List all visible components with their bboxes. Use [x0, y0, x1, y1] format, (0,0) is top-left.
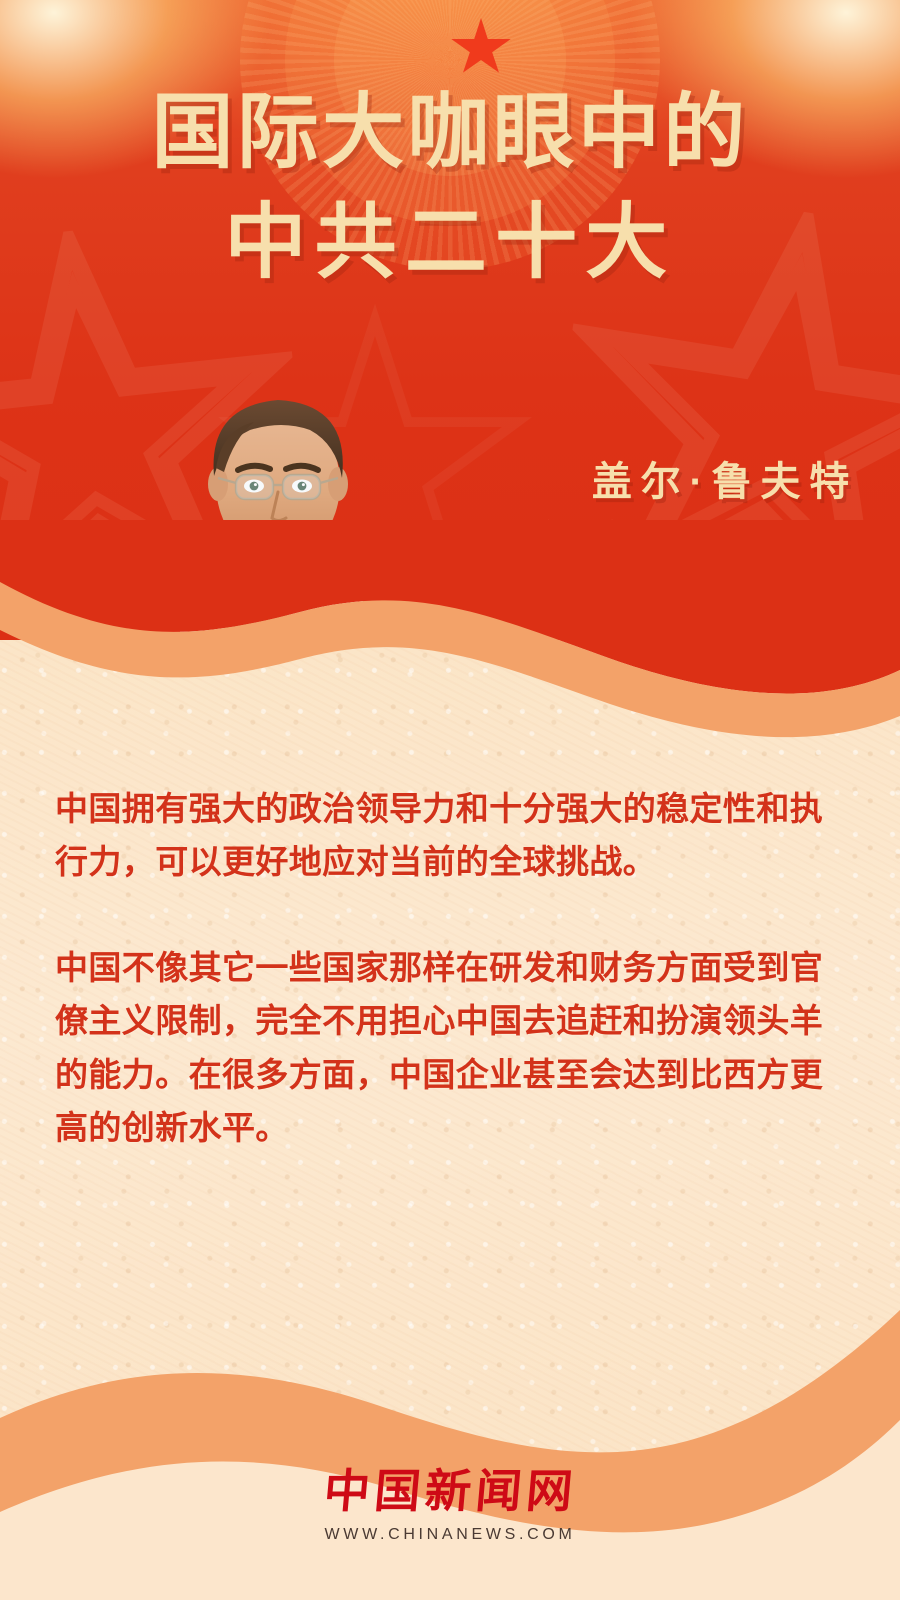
title-line-1: 国际大咖眼中的 [0, 92, 900, 174]
poster-root: 国际大咖眼中的 中共二十大 [0, 0, 900, 1600]
title-line-2: 中共二十大 [0, 202, 900, 284]
guest-name: 盖尔·鲁夫特 [338, 460, 858, 504]
chinanews-logo: 中国新闻网 WWW.CHINANEWS.COM [0, 1468, 900, 1544]
quote-paragraph-2: 中国不像其它一些国家那样在研发和财务方面受到官僚主义限制，完全不用担心中国去追赶… [55, 941, 845, 1155]
guest-credentials: 美国华盛顿智库全球安全研究所(IAGS)联席所长、 美国能源安全理事会高级顾问 [338, 516, 858, 579]
guest-info: 盖尔·鲁夫特 美国华盛顿智库全球安全研究所(IAGS)联席所长、 美国能源安全理… [338, 460, 858, 579]
quote-body: 中国拥有强大的政治领导力和十分强大的稳定性和执行力，可以更好地应对当前的全球挑战… [55, 782, 845, 1155]
page-title: 国际大咖眼中的 中共二十大 [0, 92, 900, 284]
chinanews-url: WWW.CHINANEWS.COM [0, 1526, 900, 1544]
hero-header: 国际大咖眼中的 中共二十大 [0, 0, 900, 640]
chinanews-logo-icon: 中国新闻网 [321, 1468, 578, 1514]
credential-line-1: 美国华盛顿智库全球安全研究所(IAGS)联席所长、 [338, 516, 858, 548]
quote-paragraph-1: 中国拥有强大的政治领导力和十分强大的稳定性和执行力，可以更好地应对当前的全球挑战… [55, 782, 845, 889]
credential-line-2: 美国能源安全理事会高级顾问 [338, 548, 858, 580]
